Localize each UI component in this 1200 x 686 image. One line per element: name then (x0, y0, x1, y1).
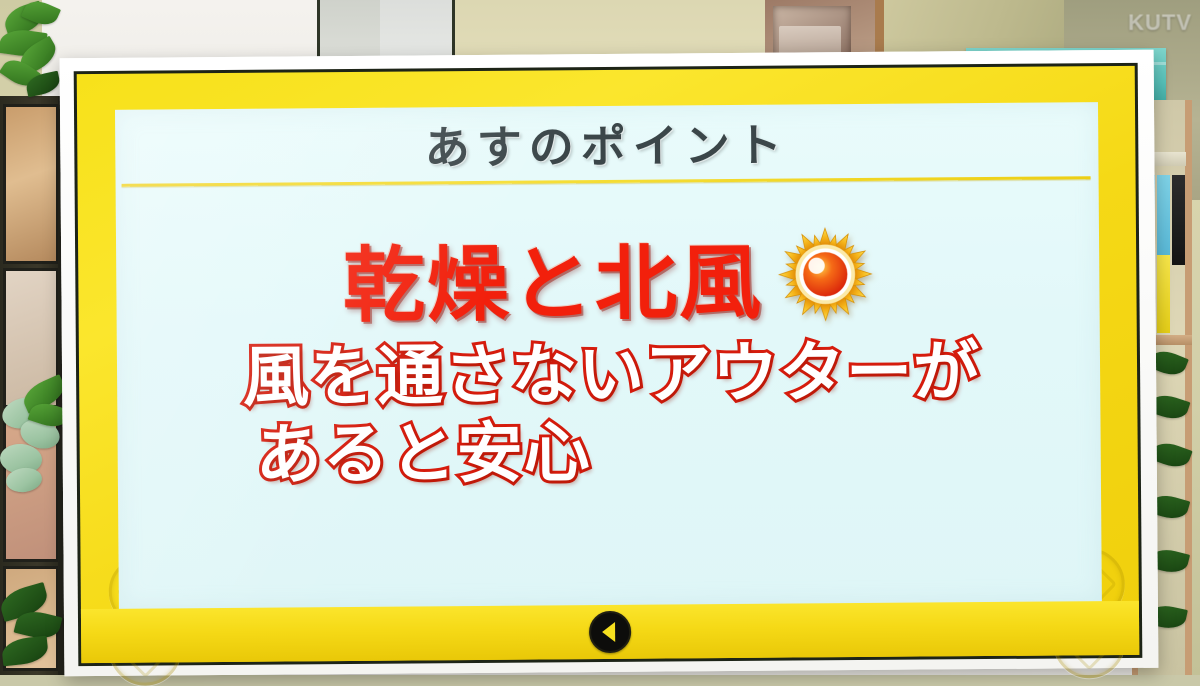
back-button[interactable] (589, 611, 631, 653)
panel-header: あすのポイント (115, 102, 1099, 182)
forecast-board: あすのポイント 乾燥と北風 (60, 50, 1159, 677)
subtitle-line-2: あると安心 (255, 416, 591, 493)
shelf-book (1157, 175, 1170, 265)
headline-text: 乾燥と北風 (342, 215, 763, 337)
page-title: あすのポイント (424, 108, 789, 176)
chevron-left-icon (602, 622, 615, 642)
headline-row: 乾燥と北風 (116, 212, 1100, 340)
shelf-book (1172, 175, 1185, 265)
board-bottom-bar (81, 601, 1139, 663)
subtitle-line-1: 風を通さないアウターが (243, 335, 981, 415)
shelf-box (3, 104, 59, 264)
subtitle-block: 風を通さないアウターが あると安心 (117, 334, 1101, 494)
sun-icon (776, 226, 873, 323)
channel-watermark: KUTV (1128, 10, 1192, 36)
board-content-panel: あすのポイント 乾燥と北風 (115, 102, 1102, 610)
shelf-book (1157, 255, 1170, 333)
